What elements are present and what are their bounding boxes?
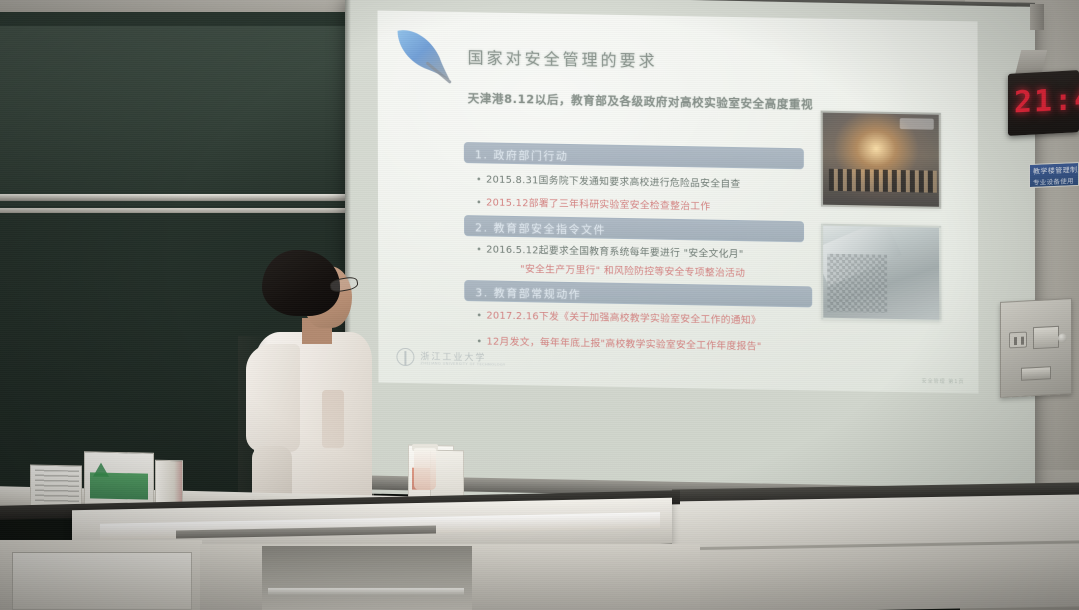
podium-keyboard-rail bbox=[268, 588, 464, 596]
bullet-text: 12月发文，每年年底上报"高校教学实验室安全工作年度报告" bbox=[486, 336, 761, 352]
university-name-english: ZHEJIANG UNIVERSITY OF TECHNOLOGY bbox=[420, 361, 505, 367]
bullet-text: 2017.2.16下发《关于加强高校教学实验室安全工作的通知》 bbox=[486, 310, 761, 326]
section-1-bullet-2: •2015.12部署了三年科研实验室安全检查整治工作 bbox=[476, 194, 710, 212]
bullet-dot-icon: • bbox=[476, 310, 482, 321]
chalkboard-rail-upper bbox=[0, 194, 372, 201]
bullet-text: 2015.12部署了三年科研实验室安全检查整治工作 bbox=[486, 197, 710, 212]
digital-clock: 21:4 bbox=[1008, 70, 1079, 136]
bullet-dot-icon: • bbox=[476, 244, 482, 255]
aerial-disaster-photo bbox=[821, 224, 941, 322]
paper-cup[interactable] bbox=[414, 448, 436, 490]
av-port-icon[interactable] bbox=[1033, 326, 1059, 349]
section-2-bullet-2: "安全生产万里行" 和风险防控等安全专项整治活动 bbox=[520, 261, 745, 279]
chalkboard-rail-lower bbox=[0, 208, 372, 213]
bullet-dot-icon: • bbox=[476, 197, 482, 208]
podium-keyboard-cavity[interactable] bbox=[262, 546, 472, 610]
person-shirt-print bbox=[322, 390, 344, 448]
slide-footer: 安全管理 第1页 bbox=[922, 377, 965, 385]
power-socket-icon[interactable] bbox=[1009, 331, 1027, 348]
panel-lower-outlet-icon[interactable] bbox=[1021, 366, 1051, 381]
clock-ceiling-mount bbox=[1030, 4, 1044, 30]
right-desk-surface bbox=[672, 494, 1079, 610]
sign-line-2: 专业设备使用 bbox=[1033, 175, 1074, 187]
podium-left-panel bbox=[12, 552, 192, 610]
slide-title: 国家对安全管理的要求 bbox=[468, 44, 658, 71]
chalk-box-1-label bbox=[35, 470, 79, 505]
section-3-label: 3. 教育部常规动作 bbox=[475, 284, 581, 302]
panel-knob-icon[interactable] bbox=[1058, 333, 1067, 342]
bullet-dot-icon: • bbox=[476, 174, 482, 185]
chalk-box-2-band bbox=[90, 472, 148, 499]
lecturer-person bbox=[236, 250, 376, 530]
photo-watermark bbox=[900, 118, 934, 130]
section-1-bullet-1: •2015.8.31国务院下发通知要求高校进行危险品安全自查 bbox=[476, 171, 741, 190]
person-sleeve bbox=[246, 344, 300, 452]
university-logo: 浙江工业大学 ZHEJIANG UNIVERSITY OF TECHNOLOGY bbox=[396, 347, 512, 371]
section-3-bullet-2: •12月发文，每年年底上报"高校教学实验室安全工作年度报告" bbox=[476, 333, 761, 352]
photo-skyline bbox=[829, 169, 937, 193]
chalkboard-glare bbox=[0, 26, 372, 206]
chalk-box-1[interactable] bbox=[30, 464, 82, 507]
bullet-text: "安全生产万里行" 和风险防控等安全专项整治活动 bbox=[520, 264, 745, 279]
explosion-night-photo bbox=[821, 111, 941, 209]
person-hair bbox=[262, 250, 340, 316]
presentation-slide: 国家对安全管理的要求 天津港8.12以后，教育部及各级政府对高校实验室安全高度重… bbox=[378, 10, 979, 393]
feather-decoration-icon bbox=[392, 23, 454, 86]
clock-time-display: 21:4 bbox=[1014, 81, 1079, 120]
bullet-text: 2015.8.31国务院下发通知要求高校进行危险品安全自查 bbox=[486, 174, 741, 190]
section-2-bullet-1: •2016.5.12起要求全国教育系统每年要进行 "安全文化月" bbox=[476, 241, 744, 260]
section-header-2: 2. 教育部安全指令文件 bbox=[464, 215, 804, 242]
bullet-text: 2016.5.12起要求全国教育系统每年要进行 "安全文化月" bbox=[486, 244, 743, 260]
wall-notice-sign: 教学楼管理制度 专业设备使用 bbox=[1029, 162, 1079, 188]
photo-rubble bbox=[827, 254, 887, 313]
section-2-label: 2. 教育部安全指令文件 bbox=[475, 219, 606, 237]
chalk-box-2[interactable] bbox=[84, 451, 154, 508]
av-wall-panel[interactable] bbox=[1000, 298, 1072, 398]
slide-subtitle: 天津港8.12以后，教育部及各级政府对高校实验室安全高度重视 bbox=[468, 90, 813, 112]
section-1-label: 1. 政府部门行动 bbox=[475, 146, 569, 164]
university-emblem-icon bbox=[396, 348, 414, 366]
classroom-scene: 国家对安全管理的要求 天津港8.12以后，教育部及各级政府对高校实验室安全高度重… bbox=[0, 0, 1079, 610]
section-header-3: 3. 教育部常规动作 bbox=[464, 280, 812, 307]
section-3-bullet-1: •2017.2.16下发《关于加强高校教学实验室安全工作的通知》 bbox=[476, 307, 761, 326]
section-header-1: 1. 政府部门行动 bbox=[464, 142, 804, 169]
bullet-dot-icon: • bbox=[476, 336, 482, 347]
